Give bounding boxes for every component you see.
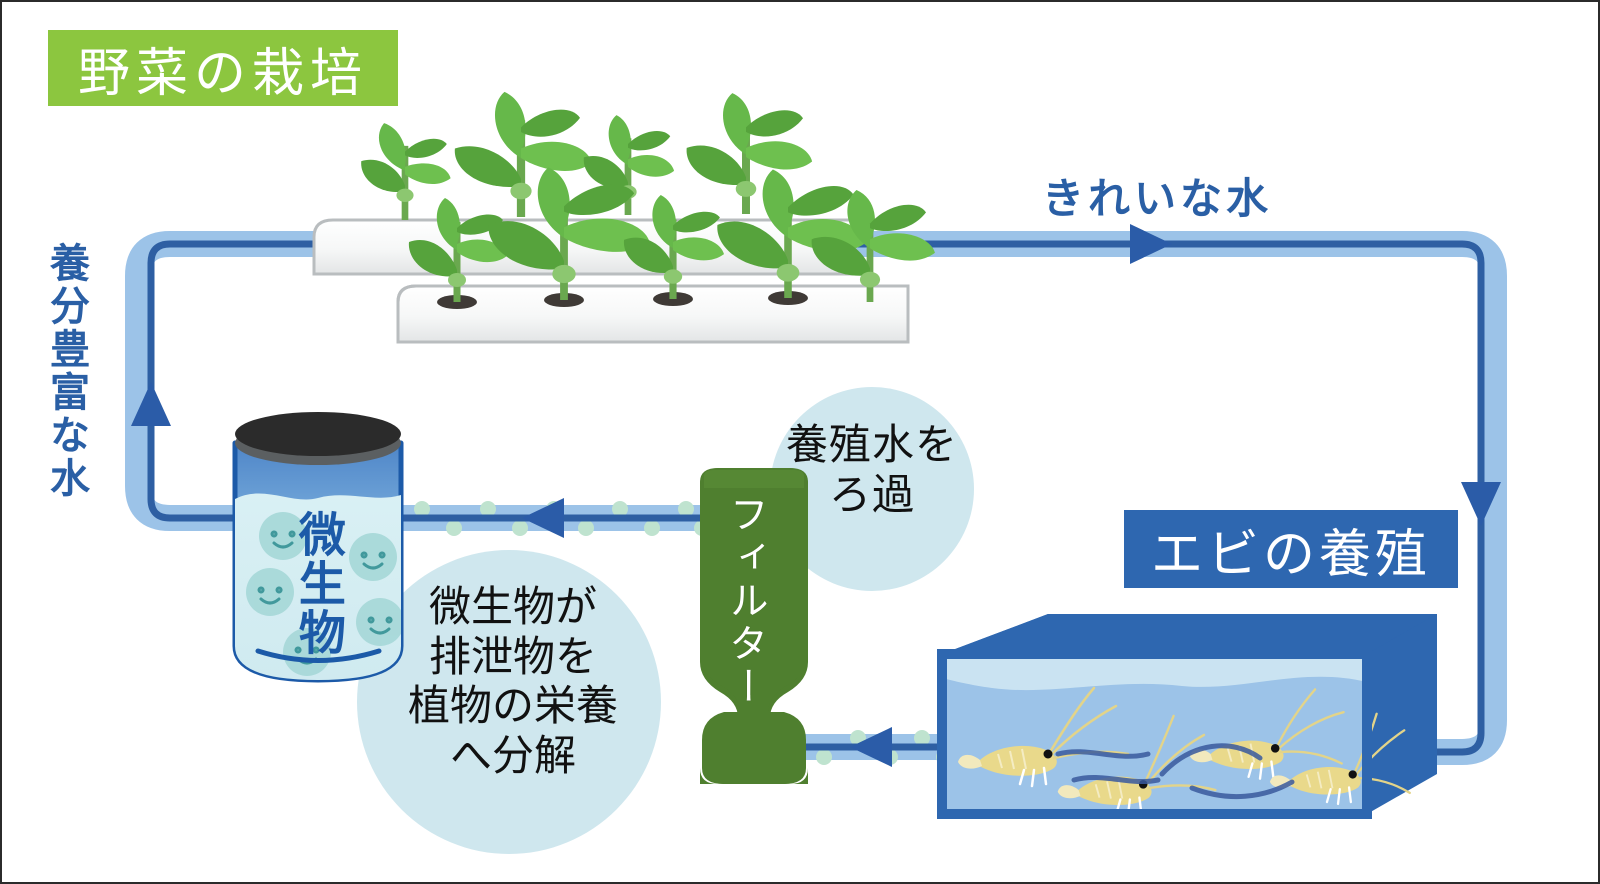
nutrient-rich-water-label: 養分豊富な水: [46, 242, 86, 500]
vegetable-cultivation-badge: 野菜の栽培: [48, 30, 398, 106]
tank-lid: [235, 412, 401, 456]
grow-channel-bottom: [398, 286, 908, 342]
clean-water-arrow-right: [1130, 224, 1172, 264]
filter-bubble-label: 養殖水を ろ過: [764, 420, 980, 519]
filter-to-tank-arrow: [522, 498, 564, 538]
aquaponics-diagram: 野菜の栽培 エビの養殖 きれいな水 養分豊富な水 養殖水を ろ過 微生物が 排泄…: [0, 0, 1600, 884]
shrimp-aquaculture-label: エビの養殖: [1151, 512, 1431, 587]
microbe-tank-label: 微生物: [293, 510, 342, 657]
vegetable-cultivation-label: 野菜の栽培: [78, 31, 368, 106]
shrimp-tank: [942, 614, 1437, 815]
microbe-bubble-label: 微生物が 排泄物を 植物の栄養 へ分解: [384, 582, 642, 780]
shrimp-aquaculture-badge: エビの養殖: [1124, 510, 1458, 588]
filter-vessel-label: フィルター: [726, 494, 765, 709]
clean-water-label: きれいな水: [1042, 165, 1272, 226]
plants-group: [361, 92, 935, 302]
